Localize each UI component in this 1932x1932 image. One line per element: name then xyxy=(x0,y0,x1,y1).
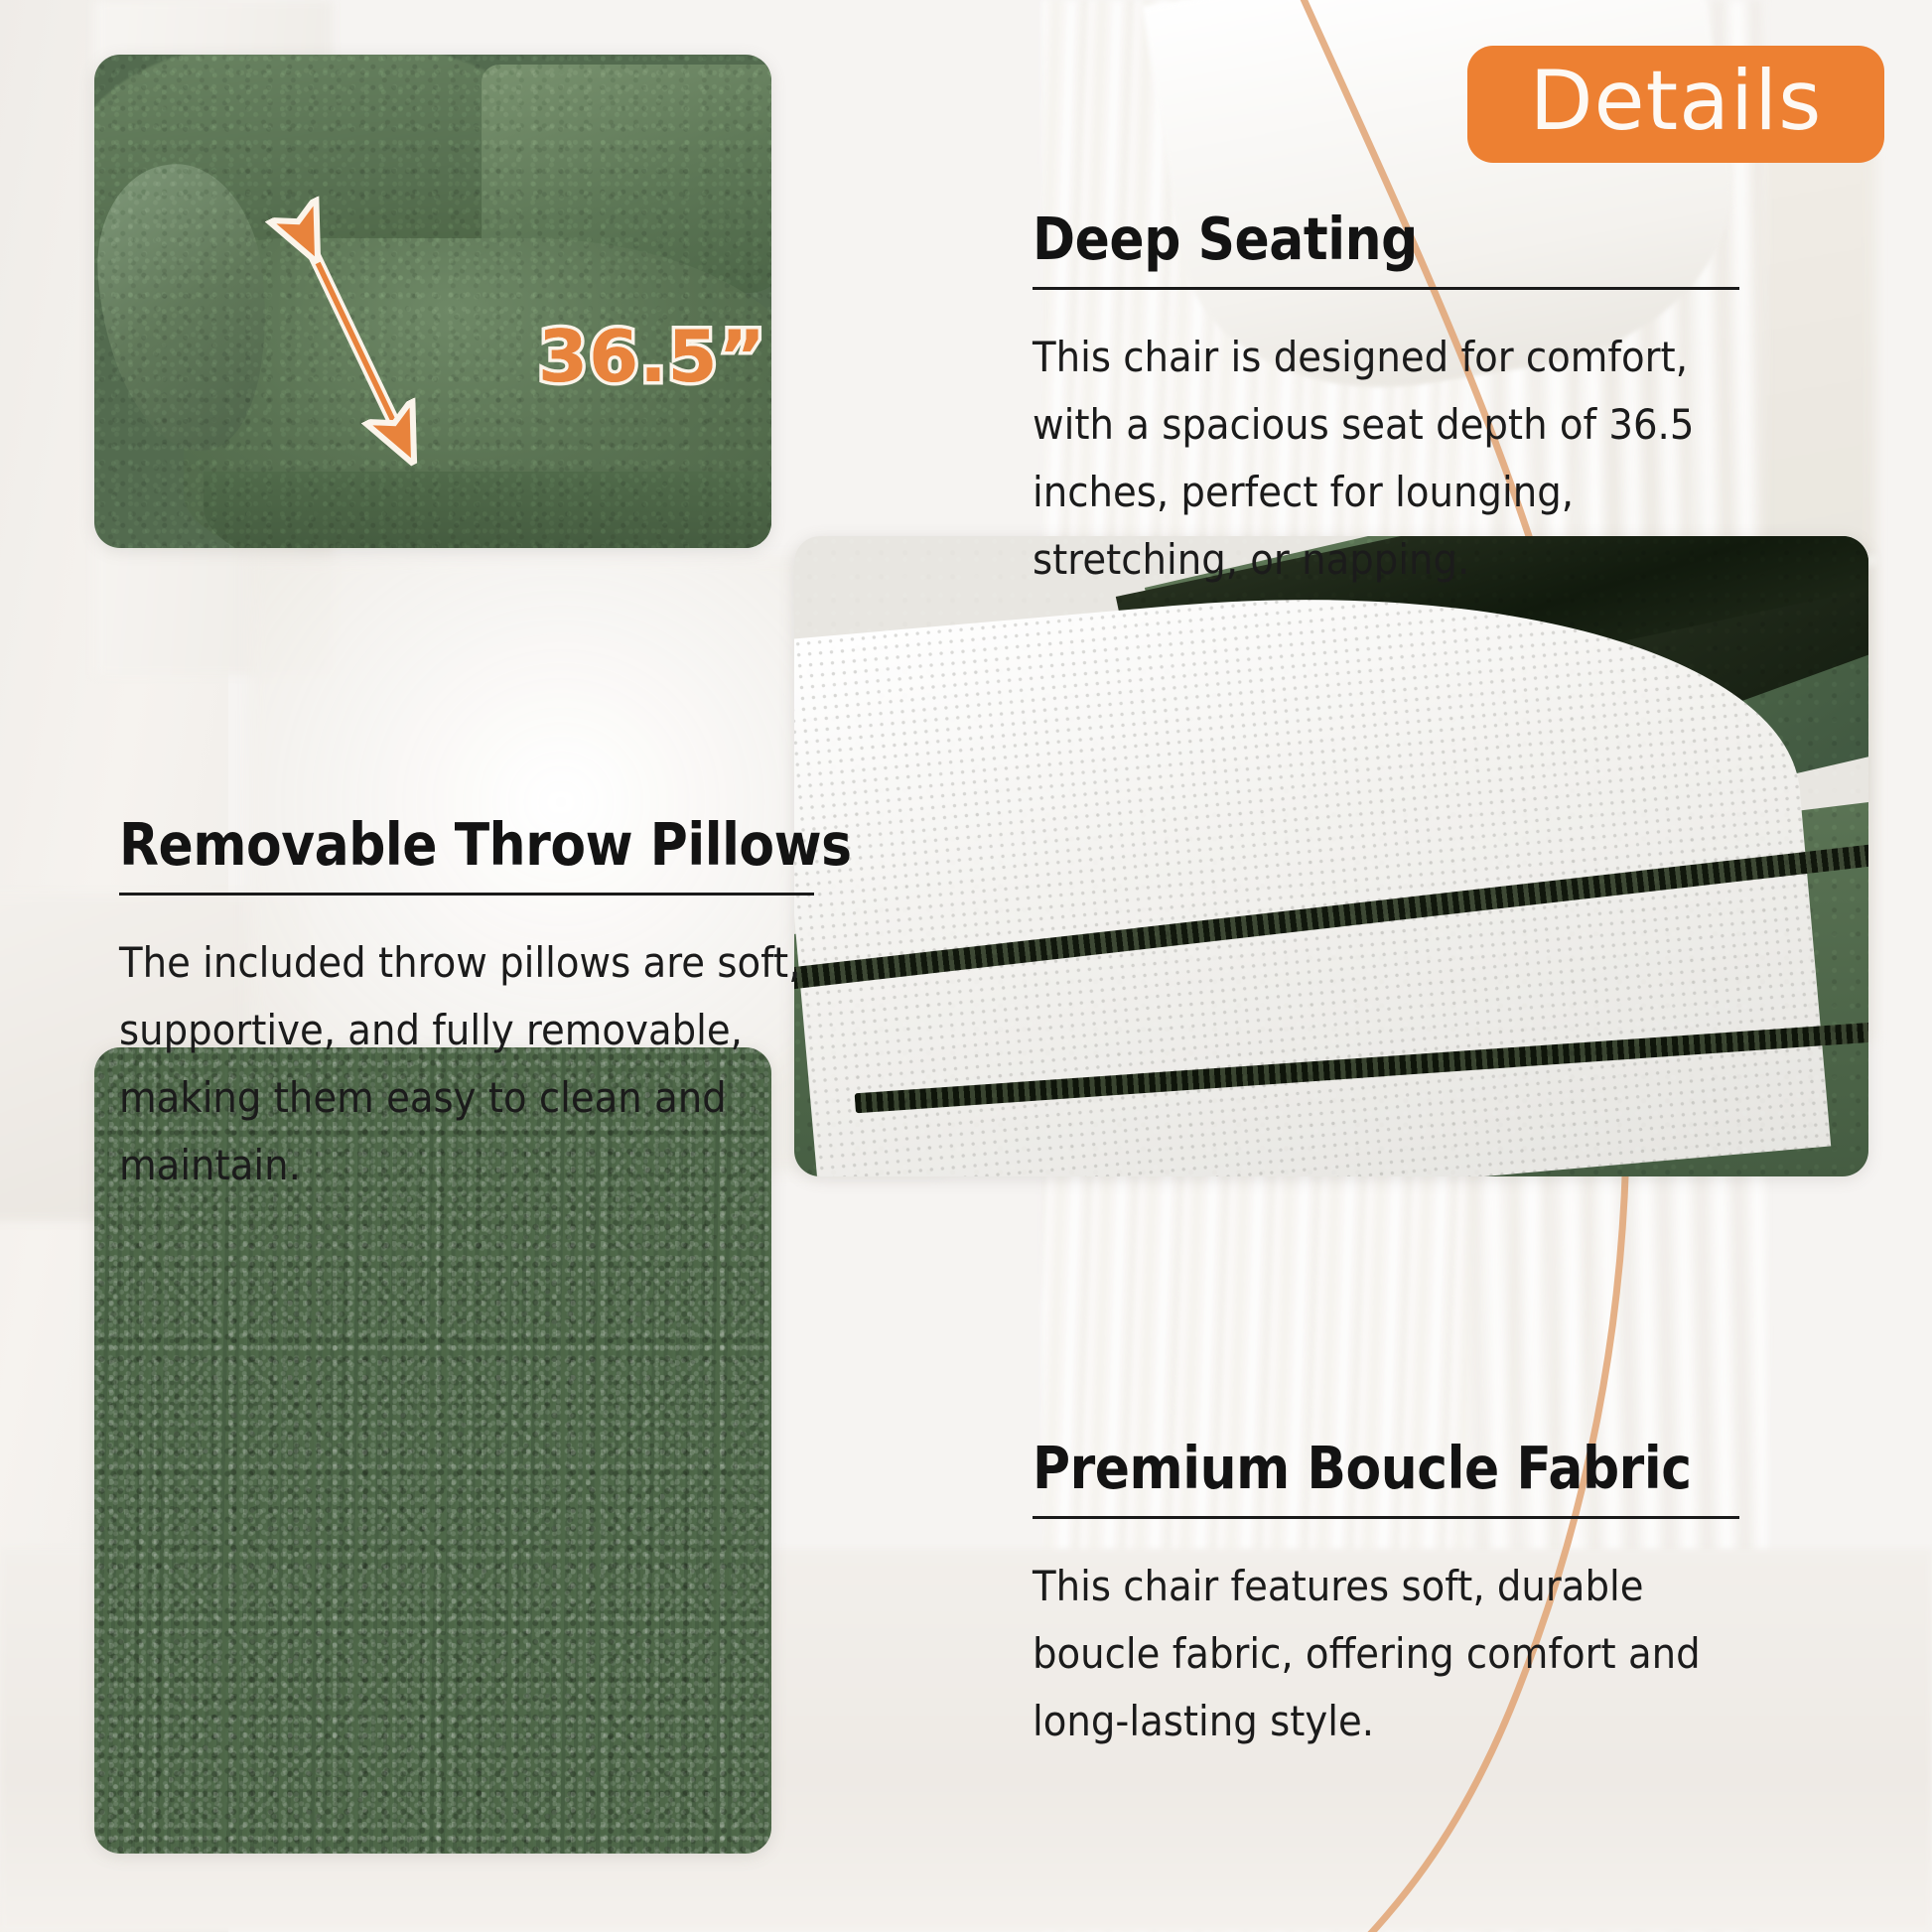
details-badge-label: Details xyxy=(1530,60,1823,149)
section-removable-throw-pillows: Removable Throw Pillows The included thr… xyxy=(119,814,874,1199)
dimension-arrow-icon xyxy=(94,55,771,548)
section-body: This chair features soft, durable boucle… xyxy=(1033,1553,1754,1755)
zipper-lining-detail-photo xyxy=(794,536,1868,1176)
section-premium-boucle-fabric: Premium Boucle Fabric This chair feature… xyxy=(1033,1438,1817,1755)
section-deep-seating: Deep Seating This chair is designed for … xyxy=(1033,208,1817,594)
heading-underline xyxy=(1033,1516,1739,1519)
section-heading: Removable Throw Pillows xyxy=(119,814,783,876)
heading-underline xyxy=(119,893,814,896)
details-badge: Details xyxy=(1467,46,1884,163)
section-heading: Premium Boucle Fabric xyxy=(1033,1438,1723,1499)
section-body: The included throw pillows are soft, sup… xyxy=(119,929,813,1199)
section-heading: Deep Seating xyxy=(1033,208,1723,270)
section-body: This chair is designed for comfort, with… xyxy=(1033,324,1754,594)
chair-seat-depth-photo: 36.5” 36.5” xyxy=(94,55,771,548)
zipper-photo-image xyxy=(794,536,1868,1176)
seat-depth-label: 36.5” xyxy=(538,315,766,398)
boucle-texture-overlay xyxy=(794,536,1868,1176)
heading-underline xyxy=(1033,287,1739,290)
